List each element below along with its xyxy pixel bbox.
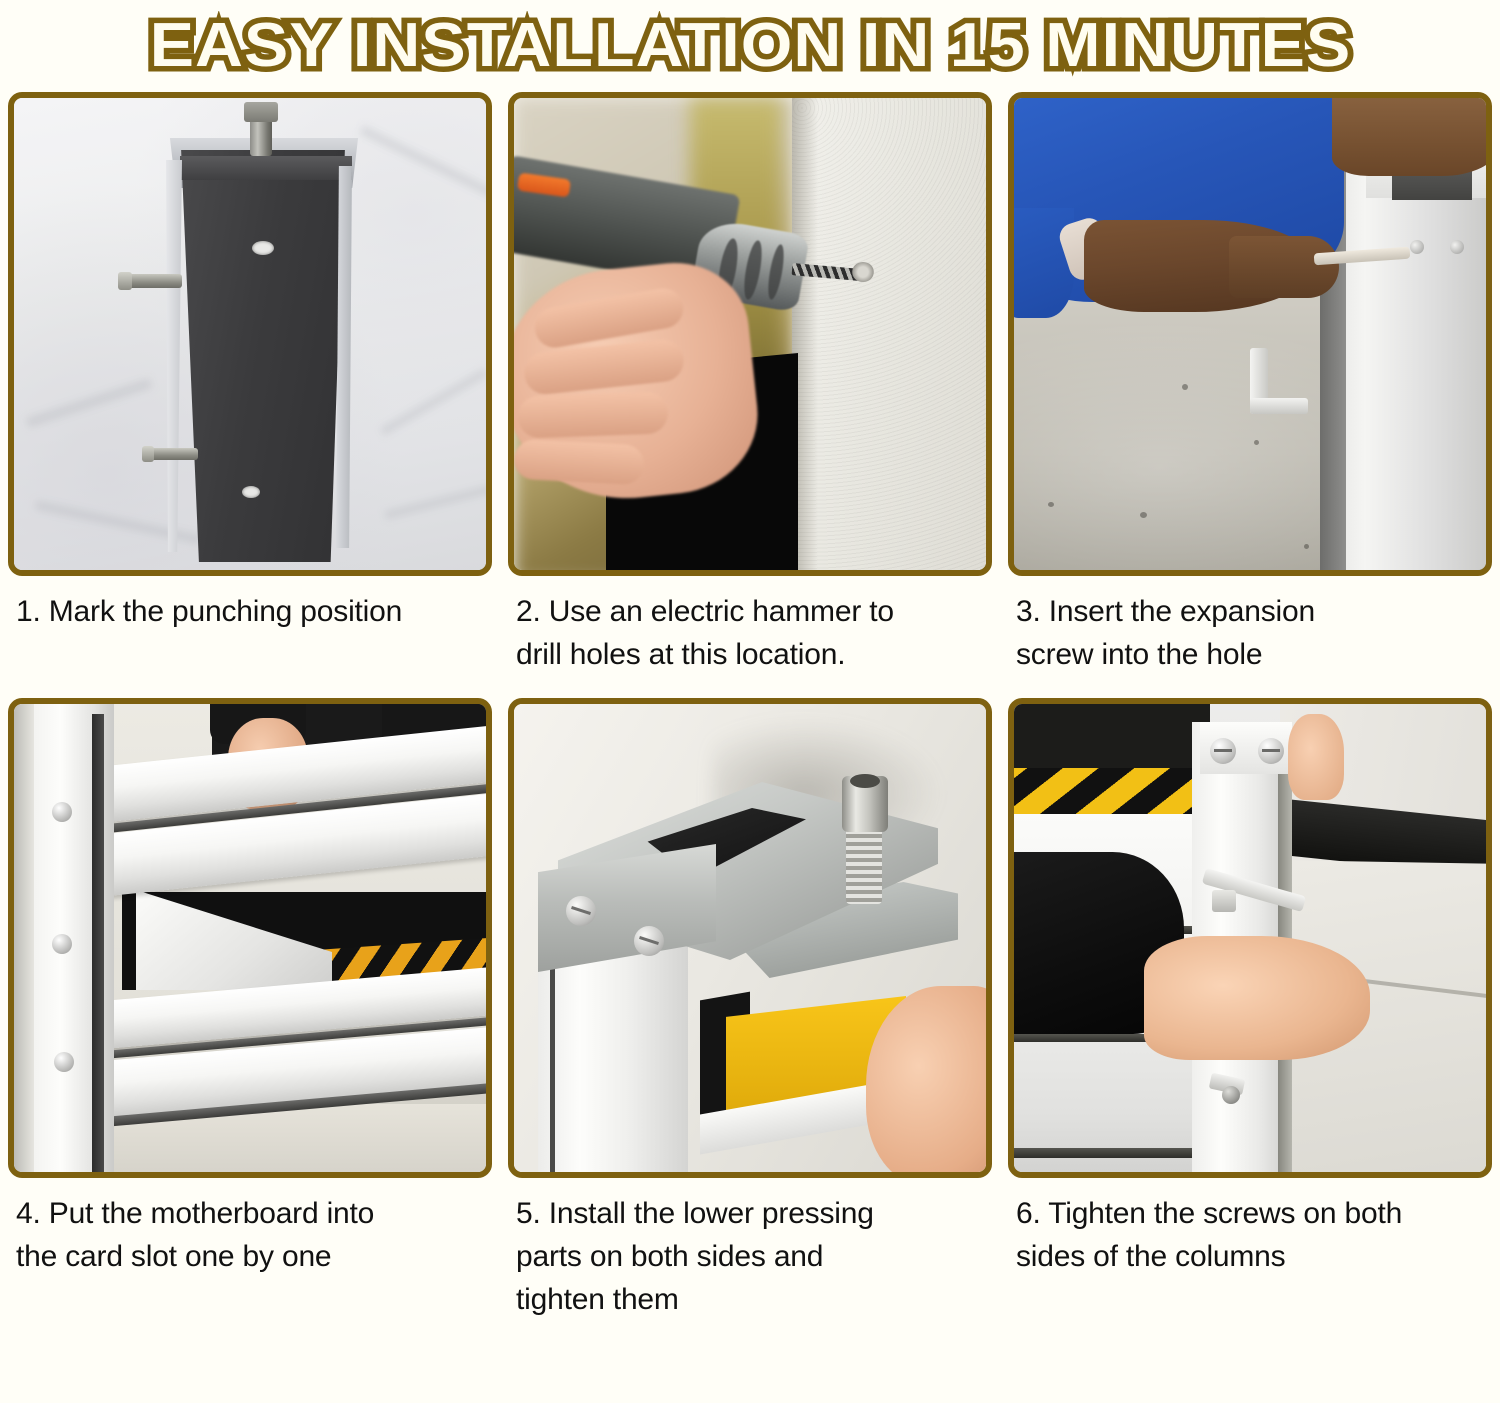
steps-row-bottom: 4. Put the motherboard into the card slo… bbox=[0, 698, 1500, 1321]
caption-line: the card slot one by one bbox=[16, 1235, 486, 1278]
step-card-1: 1. Mark the punching position bbox=[0, 92, 500, 676]
page-title: EASY INSTALLATION IN 15 MINUTES bbox=[149, 15, 1351, 77]
column-screw bbox=[1210, 738, 1236, 764]
steps-grid: 1. Mark the punching position bbox=[0, 92, 1500, 1321]
worker-hand-upper bbox=[1332, 98, 1486, 176]
step-caption-2: 2. Use an electric hammer to drill holes… bbox=[508, 576, 992, 676]
column-screw bbox=[52, 934, 72, 954]
mark-hole-lower bbox=[242, 486, 260, 498]
caption-line: tighten them bbox=[516, 1278, 986, 1321]
step-card-5: 5. Install the lower pressing parts on b… bbox=[500, 698, 1000, 1321]
bracket-screw bbox=[566, 896, 596, 926]
step-card-3: 3. Insert the expansion screw into the h… bbox=[1000, 92, 1500, 676]
step-photo-frame-5[interactable] bbox=[508, 698, 992, 1178]
caption-line: 5. Install the lower pressing bbox=[516, 1192, 986, 1235]
column-screw bbox=[54, 1052, 74, 1072]
step-photo-5 bbox=[514, 704, 986, 1172]
step-card-4: 4. Put the motherboard into the card slo… bbox=[0, 698, 500, 1321]
step-card-6: 6. Tighten the screws on both sides of t… bbox=[1000, 698, 1500, 1321]
column-screw bbox=[1258, 738, 1284, 764]
mounting-pin-upper bbox=[118, 274, 182, 288]
step-photo-6 bbox=[1014, 704, 1486, 1172]
bolt-thread bbox=[846, 822, 882, 904]
step-card-2: 2. Use an electric hammer to drill holes… bbox=[500, 92, 1000, 676]
step-caption-6: 6. Tighten the screws on both sides of t… bbox=[1008, 1178, 1492, 1278]
step-caption-1: 1. Mark the punching position bbox=[8, 576, 492, 633]
mounting-pin-lower bbox=[142, 448, 198, 460]
mark-hole-upper bbox=[252, 241, 274, 255]
step-photo-frame-4[interactable] bbox=[8, 698, 492, 1178]
header-banner: EASY INSTALLATION IN 15 MINUTES bbox=[0, 0, 1500, 92]
step-caption-5: 5. Install the lower pressing parts on b… bbox=[508, 1178, 992, 1321]
step-caption-4: 4. Put the motherboard into the card slo… bbox=[8, 1178, 492, 1278]
mounting-post bbox=[174, 150, 352, 562]
step-photo-3 bbox=[1014, 98, 1486, 570]
caption-line: screw into the hole bbox=[1016, 633, 1486, 676]
caption-line: 3. Insert the expansion bbox=[1016, 590, 1486, 633]
caption-line: drill holes at this location. bbox=[516, 633, 986, 676]
step-photo-4 bbox=[14, 704, 486, 1172]
bracket-screw bbox=[634, 926, 664, 956]
hand-tightening-screw bbox=[1144, 936, 1370, 1060]
wall-surface bbox=[792, 98, 986, 570]
row-spacer bbox=[0, 676, 1500, 698]
steps-row-top: 1. Mark the punching position bbox=[0, 92, 1500, 676]
step-photo-frame-6[interactable] bbox=[1008, 698, 1492, 1178]
caption-line: sides of the columns bbox=[1016, 1235, 1486, 1278]
step-photo-frame-1[interactable] bbox=[8, 92, 492, 576]
caption-line: 2. Use an electric hammer to bbox=[516, 590, 986, 633]
hand-holding-column bbox=[1288, 714, 1344, 800]
step-photo-frame-3[interactable] bbox=[1008, 92, 1492, 576]
step-photo-frame-2[interactable] bbox=[508, 92, 992, 576]
step-photo-2 bbox=[514, 98, 986, 570]
caption-line: parts on both sides and bbox=[516, 1235, 986, 1278]
step-photo-1 bbox=[14, 98, 486, 570]
step-caption-3: 3. Insert the expansion screw into the h… bbox=[1008, 576, 1492, 676]
caption-line: 6. Tighten the screws on both bbox=[1016, 1192, 1486, 1235]
column-screw bbox=[52, 802, 72, 822]
caption-line: 1. Mark the punching position bbox=[16, 590, 486, 633]
caption-line: 4. Put the motherboard into bbox=[16, 1192, 486, 1235]
